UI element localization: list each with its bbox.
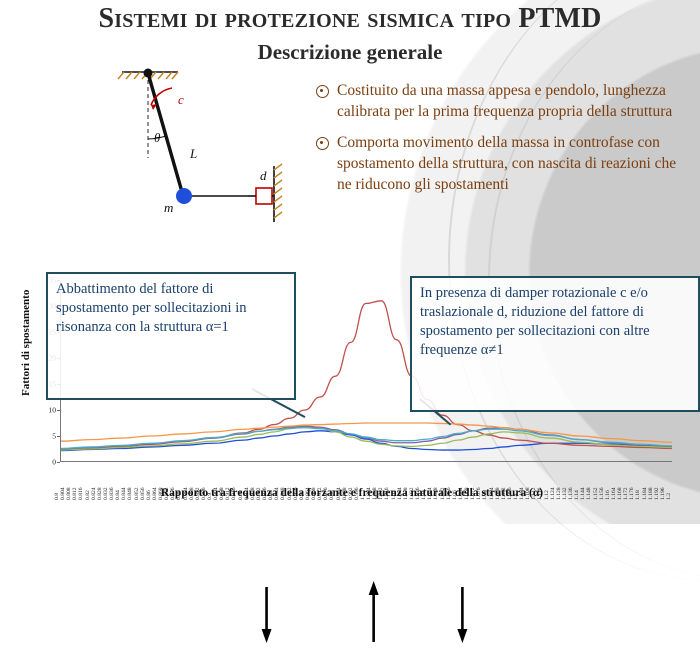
arrow-down-left xyxy=(262,587,272,643)
slide-root: Sistemi di protezione sismica tipo PTMD … xyxy=(0,0,700,524)
callout-left: Abbattimento del fattore di spostamento … xyxy=(46,272,296,400)
label-length-L: L xyxy=(190,146,197,162)
chart-y-axis-label: Fattori di spostamento xyxy=(20,290,32,396)
bullet-marker-icon xyxy=(316,137,329,150)
list-item: Comporta movimento della massa in contro… xyxy=(316,132,688,195)
chart-x-axis xyxy=(60,461,672,462)
callout-right: In presenza di damper rotazionale c e/o … xyxy=(410,276,700,412)
list-item: Costituito da una massa appesa e pendolo… xyxy=(316,80,688,122)
pendulum-diagram: c θ L d m xyxy=(60,62,290,242)
arrow-up-center xyxy=(369,581,379,642)
pendulum-svg xyxy=(60,62,290,242)
bullet-marker-icon xyxy=(316,85,329,98)
bullet-list: Costituito da una massa appesa e pendolo… xyxy=(316,80,688,205)
chart-y-tick-mark xyxy=(57,436,60,437)
label-mass-m: m xyxy=(164,200,173,216)
chart-y-tick-mark xyxy=(57,462,60,463)
label-damper-c: c xyxy=(178,92,184,108)
chart-x-axis-label: Rapporto tra frequenza della forzante e … xyxy=(22,487,682,499)
chart-y-tick-mark xyxy=(57,410,60,411)
bullet-text: Costituito da una massa appesa e pendolo… xyxy=(337,80,688,122)
page-subtitle: Descrizione generale xyxy=(0,40,700,64)
bullet-text: Comporta movimento della massa in contro… xyxy=(337,132,688,195)
chart-y-tick-label: 10 xyxy=(49,406,57,415)
label-damper-d: d xyxy=(260,168,267,184)
chart-y-tick-label: 5 xyxy=(52,432,56,441)
chart-y-tick-label: 0 xyxy=(52,458,56,467)
page-title: Sistemi di protezione sismica tipo PTMD xyxy=(0,4,700,34)
label-theta: θ xyxy=(154,130,160,146)
arrow-down-right xyxy=(457,587,467,643)
